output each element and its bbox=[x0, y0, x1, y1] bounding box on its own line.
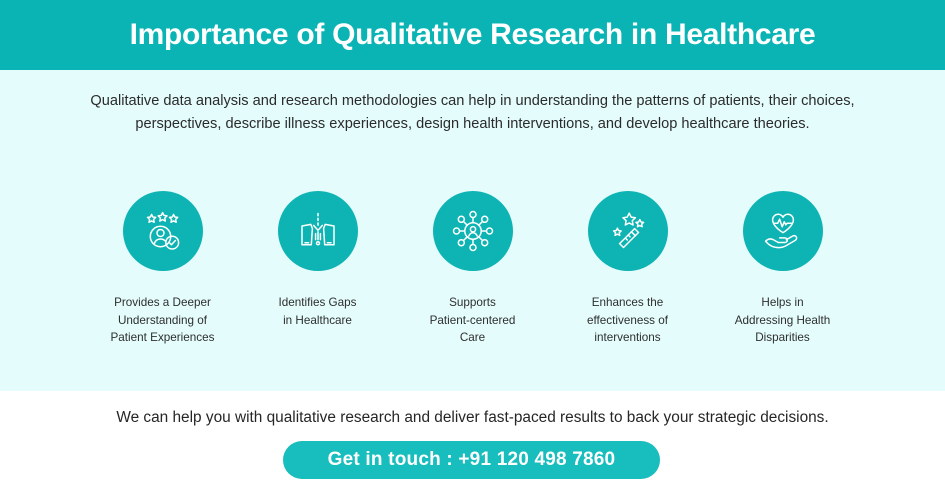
benefit-label: Identifies Gaps in Healthcare bbox=[279, 294, 357, 329]
benefit-label: Enhances the effectiveness of interventi… bbox=[587, 294, 668, 347]
stars-person-check-icon bbox=[123, 191, 203, 271]
page-title: Importance of Qualitative Research in He… bbox=[130, 18, 816, 52]
header-banner: Importance of Qualitative Research in He… bbox=[0, 0, 945, 70]
intro-paragraph: Qualitative data analysis and research m… bbox=[62, 90, 883, 136]
benefit-item-3: Supports Patient-centered Care bbox=[395, 191, 550, 347]
hand-heart-pulse-icon bbox=[743, 191, 823, 271]
gap-arrow-down-icon bbox=[278, 191, 358, 271]
magic-wand-sparkle-icon bbox=[588, 191, 668, 271]
benefit-label: Provides a Deeper Understanding of Patie… bbox=[111, 294, 215, 347]
benefit-label: Supports Patient-centered Care bbox=[430, 294, 516, 347]
benefit-item-4: Enhances the effectiveness of interventi… bbox=[550, 191, 705, 347]
body-section: Qualitative data analysis and research m… bbox=[0, 70, 945, 391]
infographic-page: Importance of Qualitative Research in He… bbox=[0, 0, 945, 500]
benefit-item-2: Identifies Gaps in Healthcare bbox=[240, 191, 395, 329]
benefit-item-5: Helps in Addressing Health Disparities bbox=[705, 191, 860, 347]
benefits-row: Provides a Deeper Understanding of Patie… bbox=[0, 191, 945, 347]
get-in-touch-button[interactable]: Get in touch : +91 120 498 7860 bbox=[283, 441, 660, 479]
footer-text: We can help you with qualitative researc… bbox=[0, 409, 945, 427]
benefit-label: Helps in Addressing Health Disparities bbox=[735, 294, 831, 347]
benefit-item-1: Provides a Deeper Understanding of Patie… bbox=[85, 191, 240, 347]
network-person-hub-icon bbox=[433, 191, 513, 271]
